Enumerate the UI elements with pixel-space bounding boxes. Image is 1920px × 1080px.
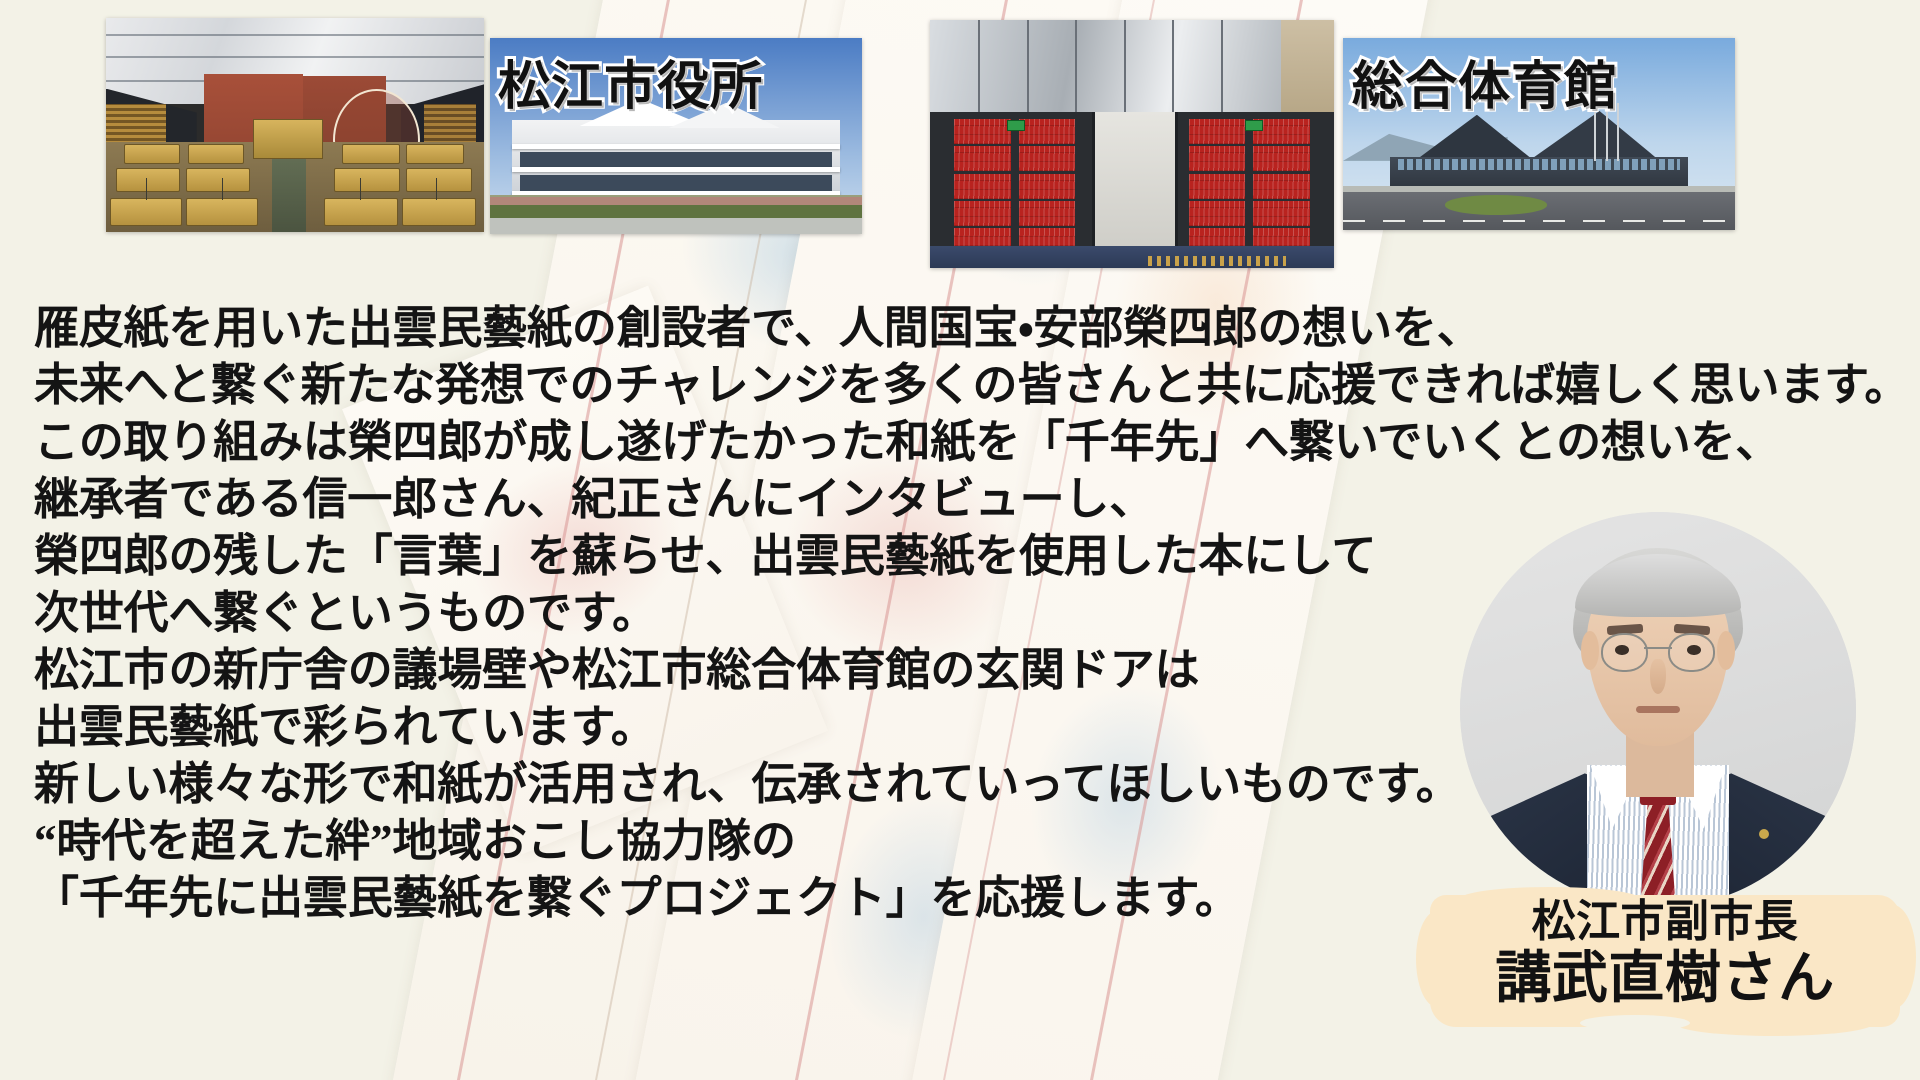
red-washi-panel (1189, 174, 1246, 199)
red-washi-panel (1189, 228, 1246, 245)
body-line: 新しい様々な形で和紙が活用され、伝承されていってほしいものです。 (34, 756, 1514, 813)
red-washi-panel (1019, 174, 1076, 199)
body-line: “時代を超えた絆”地域おこし協力隊の (34, 813, 1514, 870)
nose (1650, 659, 1666, 695)
red-washi-panel (1019, 228, 1076, 245)
red-washi-panel (954, 228, 1011, 245)
body-line: この取り組みは榮四郎が成し遂げたかった和紙を「千年先」へ繋いでいくとの想いを、 (34, 414, 1514, 471)
poster-canvas: 松江市役所 総合体育館 雁皮紙を用いた出雲民藝紙の創設者で、人間国宝・安部榮四郎… (0, 0, 1920, 1080)
exit-sign-icon (1007, 120, 1025, 131)
eye (1687, 645, 1700, 655)
path (490, 218, 862, 234)
body-paragraph: 雁皮紙を用いた出雲民藝紙の創設者で、人間国宝・安部榮四郎の想いを、 未来へと繋ぐ… (34, 300, 1514, 927)
body-line: 次世代へ繋ぐというものです。 (34, 585, 1514, 642)
red-washi-panel (954, 119, 1011, 144)
caption-gymnasium: 総合体育館 (1352, 44, 1617, 119)
ear (1581, 631, 1599, 671)
red-washi-panel (954, 201, 1011, 226)
body-line: 雁皮紙を用いた出雲民藝紙の創設者で、人間国宝・安部榮四郎の想いを、 (34, 300, 1514, 357)
red-washi-panel (1253, 146, 1310, 171)
exit-sign-icon (1245, 120, 1263, 131)
tactile-paving (1148, 256, 1285, 266)
red-washi-panel (954, 174, 1011, 199)
lane-marking (1343, 220, 1735, 222)
body-line: 「千年先に出雲民藝紙を繋ぐプロジェクト」を応援します。 (34, 870, 1514, 927)
podium (253, 119, 323, 160)
red-washi-panel (1253, 228, 1310, 245)
nameplate-name: 講武直樹さん (1430, 950, 1900, 1006)
body-line: 継承者である信一郎さん、紀正さんにインタビューし、 (34, 471, 1514, 528)
red-washi-panel (954, 146, 1011, 171)
red-washi-panel (1189, 119, 1246, 144)
portrait-photo (1460, 512, 1856, 908)
photo-washi-entrance-doors (930, 20, 1334, 268)
nameplate-title: 松江市副市長 (1430, 900, 1900, 944)
brick-edge (490, 197, 862, 205)
center-glass-door (1092, 112, 1179, 248)
glasses-bridge (1644, 647, 1672, 649)
red-washi-panel (1253, 201, 1310, 226)
window-row (1398, 159, 1680, 171)
red-washi-panel (1019, 119, 1076, 144)
hedge (490, 205, 862, 219)
eye (1615, 645, 1628, 655)
red-washi-panel (1253, 174, 1310, 199)
nameplate: 松江市副市長 講武直樹さん (1430, 900, 1900, 1006)
red-washi-panel (1019, 146, 1076, 171)
stone-wall (1281, 20, 1334, 114)
body-line: 松江市の新庁舎の議場壁や松江市総合体育館の玄関ドアは (34, 642, 1514, 699)
upper-glass-facade (930, 20, 1334, 114)
photo-council-chamber (106, 18, 484, 232)
red-washi-panel (1189, 201, 1246, 226)
mouth (1636, 706, 1680, 713)
body-line: 未来へと繋ぐ新たな発想でのチャレンジを多くの皆さんと共に応援できれば嬉しく思いま… (34, 357, 1514, 414)
planting-island (1445, 195, 1547, 214)
body-line: 出雲民藝紙で彩られています。 (34, 699, 1514, 756)
red-washi-panel (1019, 201, 1076, 226)
red-washi-panel (1189, 146, 1246, 171)
curb (1343, 186, 1735, 192)
body-line: 榮四郎の残した「言葉」を蘇らせ、出雲民藝紙を使用した本にして (34, 528, 1514, 585)
caption-city-hall: 松江市役所 (498, 44, 763, 119)
lapel-pin-icon (1759, 829, 1769, 839)
